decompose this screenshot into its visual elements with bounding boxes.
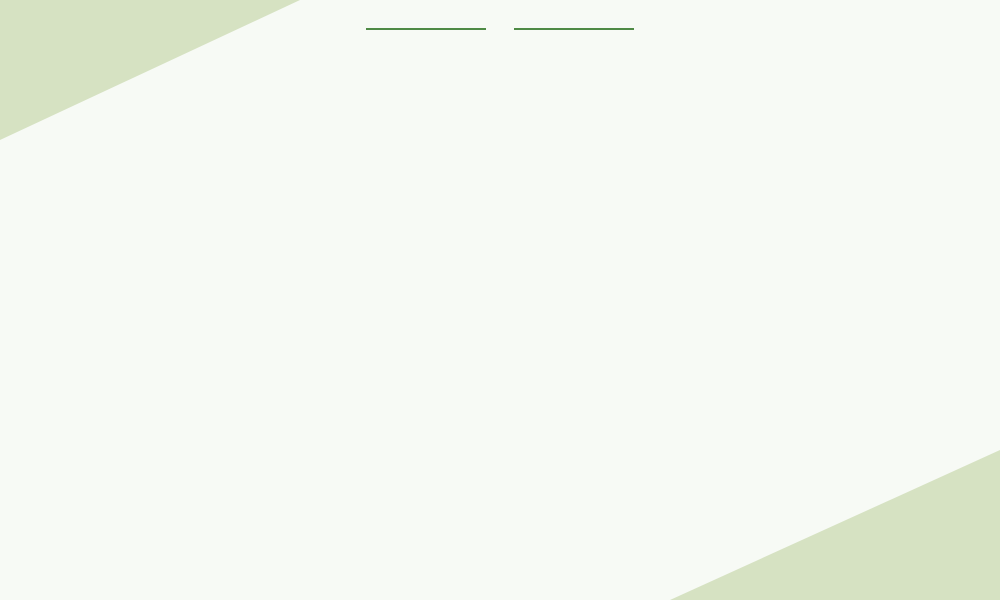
title-row — [0, 28, 1000, 30]
page-header — [0, 28, 1000, 42]
title-rule-left — [366, 28, 486, 30]
title-rule-right — [514, 28, 634, 30]
testimonials-page — [0, 0, 1000, 600]
